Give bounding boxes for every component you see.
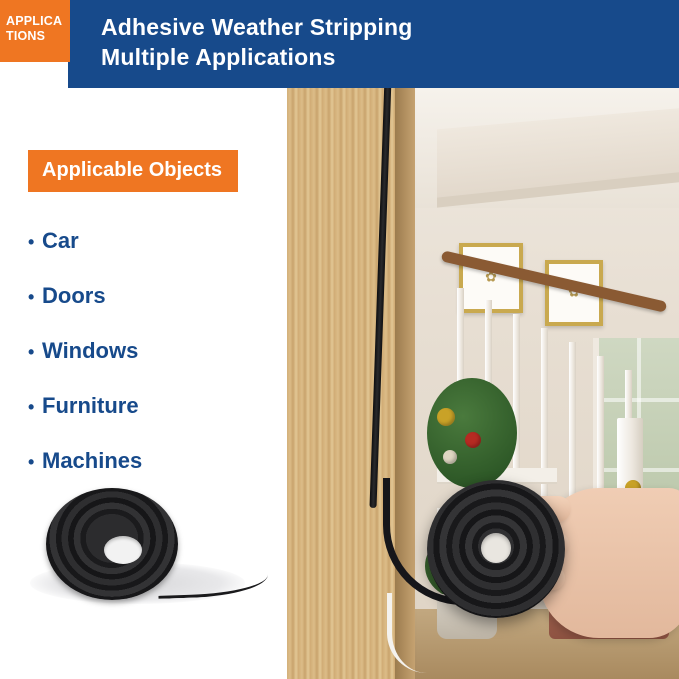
roll-center-hole [481, 533, 511, 563]
wood-door-frame-edge [395, 88, 415, 679]
list-item: •Furniture [28, 378, 268, 433]
product-infographic: Adhesive Weather Stripping Multiple Appl… [0, 0, 679, 679]
ornament-gold [437, 408, 455, 426]
ornament-cream [443, 450, 457, 464]
applicable-objects-list: •Car •Doors •Windows •Furniture •Machine… [28, 213, 268, 488]
bullet-icon: • [28, 270, 42, 325]
list-item-label: Car [42, 228, 79, 253]
header-title-line-1: Adhesive Weather Stripping [101, 12, 679, 42]
list-item: •Windows [28, 323, 268, 378]
header-banner: Adhesive Weather Stripping Multiple Appl… [68, 0, 679, 88]
left-info-panel: Applicable Objects •Car •Doors •Windows … [0, 88, 287, 679]
header-title-line-2: Multiple Applications [101, 42, 679, 72]
list-item-label: Furniture [42, 393, 139, 418]
coil-center-hole [104, 536, 142, 564]
list-item: •Doors [28, 268, 268, 323]
applications-tab-line-1: APPLICA [6, 14, 70, 29]
foam-roll-in-hand [427, 480, 565, 618]
foam-coil [46, 488, 178, 600]
applications-corner-tab: APPLICA TIONS [0, 0, 70, 62]
bullet-icon: • [28, 215, 42, 270]
applications-tab-line-2: TIONS [6, 29, 70, 44]
applicable-objects-badge: Applicable Objects [28, 150, 238, 192]
foam-strip-tail [158, 566, 269, 599]
application-photo: ✿ ✿ [287, 88, 679, 679]
bullet-icon: • [28, 380, 42, 435]
ornament-red [465, 432, 481, 448]
list-item-label: Doors [42, 283, 106, 308]
list-item-label: Machines [42, 448, 142, 473]
list-item-label: Windows [42, 338, 138, 363]
product-photo-foam-coil [18, 480, 268, 625]
list-item: •Car [28, 213, 268, 268]
bullet-icon: • [28, 325, 42, 380]
